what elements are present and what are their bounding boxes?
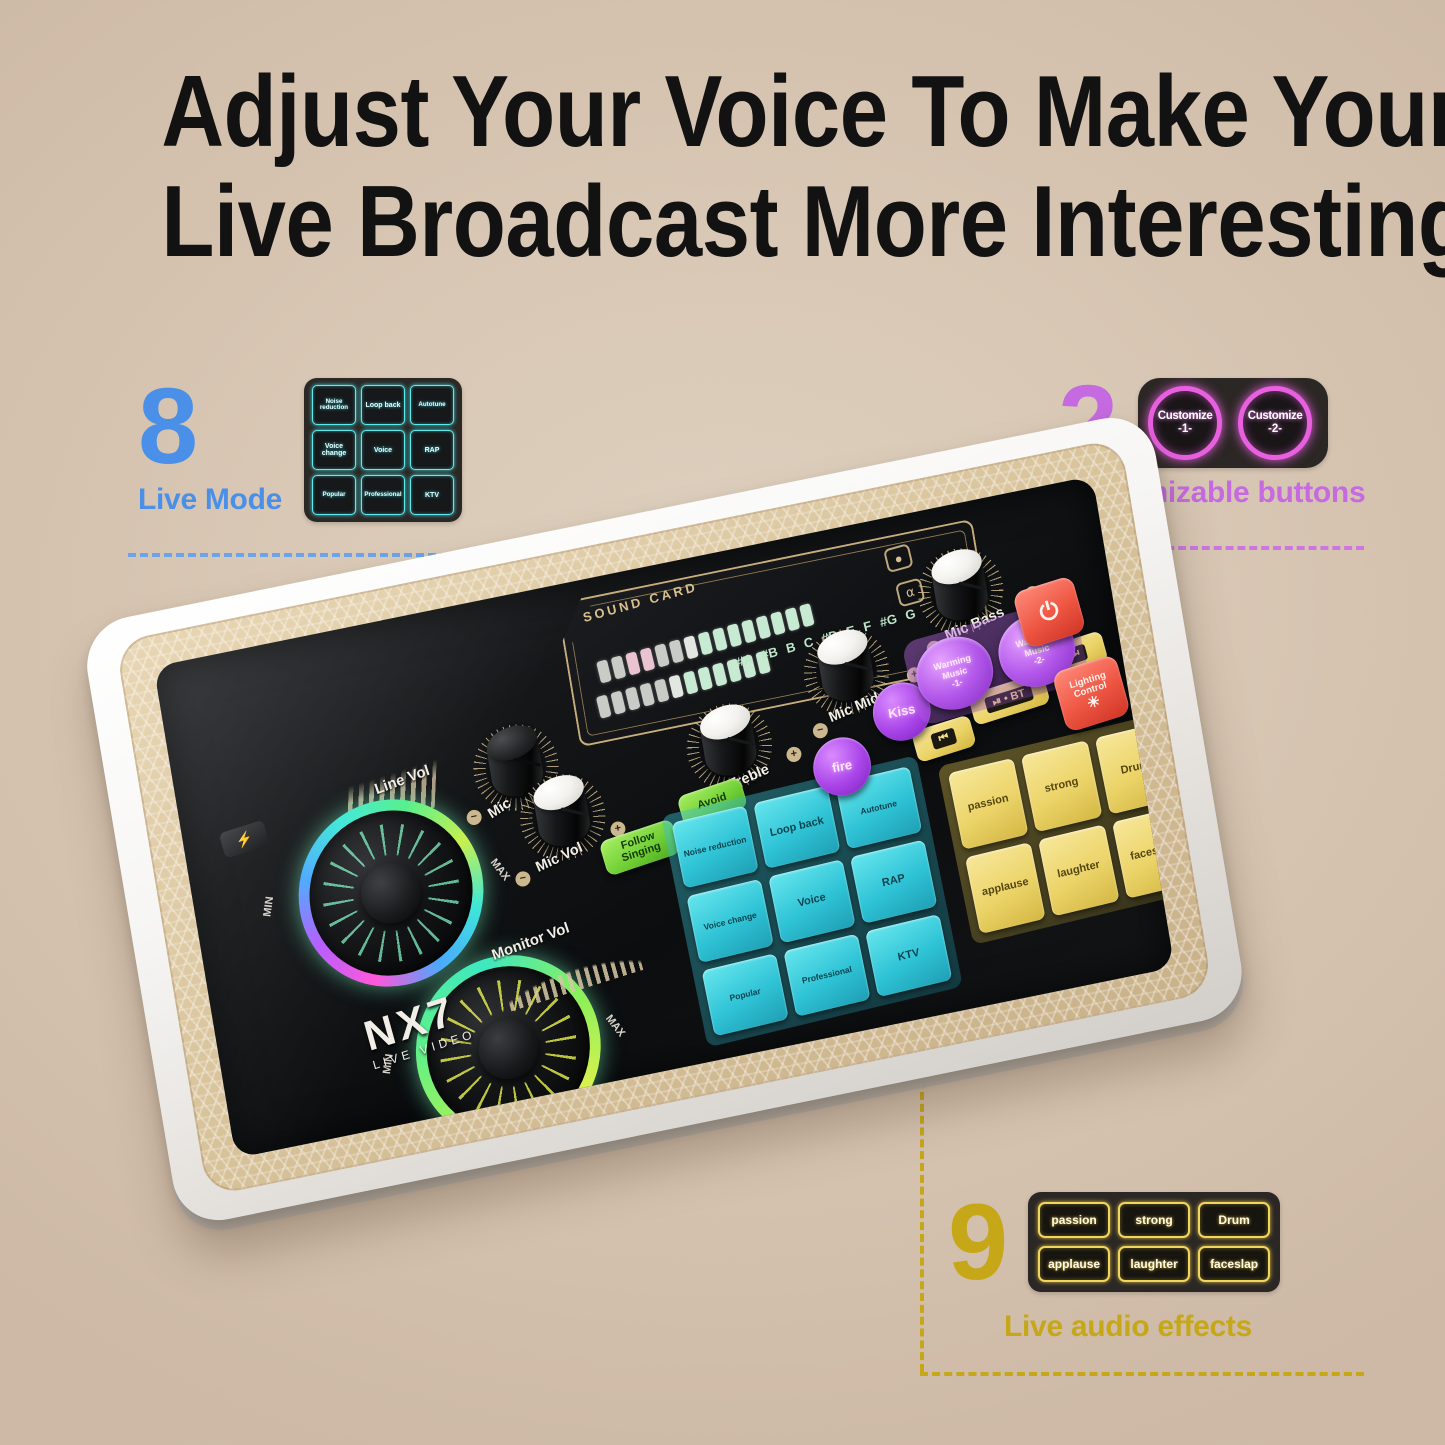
lighting-control-button[interactable]: Lighting Control ☀ xyxy=(1051,654,1131,733)
connector-gold-horizontal xyxy=(920,1372,1364,1376)
ring-2-line2: -2- xyxy=(1268,423,1282,436)
fire-button[interactable]: fire xyxy=(809,732,875,801)
previous-track-button[interactable]: ⏮ xyxy=(911,714,977,763)
customize-2-line1: Warming xyxy=(1015,630,1054,650)
audio-effects-button-preview: passion strong Drum applause laughter fa… xyxy=(1028,1192,1280,1292)
mic-mid-knob-pointer xyxy=(844,662,872,671)
brand-name: NX7 xyxy=(359,982,474,1060)
key-laughter[interactable]: laughter xyxy=(1038,824,1119,916)
customize-1-line1: Warming xyxy=(933,653,972,673)
device-shell-side xyxy=(90,469,1251,1239)
preview-chip-ktv: KTV xyxy=(410,475,454,515)
mic-vol-knob-minus: − xyxy=(514,870,531,888)
audio-effects-number: 9 xyxy=(948,1199,1006,1285)
monitor-vol-fins xyxy=(429,967,587,1131)
mic-treble-knob-pointer xyxy=(727,737,755,746)
preview-ring-customize-2: Customize -2- xyxy=(1238,386,1312,460)
decorative-eq-bars xyxy=(492,901,643,1012)
key-noise-reduction[interactable]: Noise reduction xyxy=(671,805,758,889)
mic-mid-knob[interactable] xyxy=(797,621,895,723)
led-display-inner xyxy=(567,529,986,736)
monitor-vol-label: Monitor Vol xyxy=(490,919,572,964)
audio-effects-label: Live audio effects xyxy=(1004,1310,1280,1344)
note-label-7: #G xyxy=(878,611,898,630)
customizable-number: 2 xyxy=(1058,380,1116,466)
line-vol-encoder[interactable] xyxy=(285,783,498,1004)
mic-vol-knob-body xyxy=(531,773,593,850)
line-vol-label: Line Vol xyxy=(373,762,432,798)
live-mode-number: 8 xyxy=(138,383,282,469)
mic-vol-knob-cap xyxy=(529,769,588,817)
key-professional[interactable]: Professional xyxy=(783,933,870,1017)
preview-chip-voice: Voice xyxy=(361,430,405,470)
customize-1-button[interactable]: Warming Music -1- xyxy=(909,628,1000,718)
preview-ring-customize-1: Customize -1- xyxy=(1148,386,1222,460)
customize-1-line3: -1- xyxy=(951,677,964,690)
mic-mid-knob-ticks xyxy=(797,621,895,723)
key-loop-back[interactable]: Loop back xyxy=(753,786,840,870)
headphone-icon: ⍺ xyxy=(895,577,926,607)
connector-magenta-horizontal xyxy=(1024,546,1364,550)
callout-live-audio-effects: 9 passion strong Drum applause laughter … xyxy=(948,1192,1280,1344)
live-mode-label: Live Mode xyxy=(138,483,282,517)
mic-icon: ● xyxy=(883,543,914,573)
callout-customizable-buttons: 2 Customize -1- Customize -2- Customizab… xyxy=(1058,378,1365,510)
mic-vol-knob[interactable] xyxy=(514,766,612,868)
preview-chip-voice-change: Voice change xyxy=(312,430,356,470)
live-mode-keypad: Noise reduction Loop back Autotune Voice… xyxy=(661,755,963,1047)
preview-chip-passion: passion xyxy=(1038,1202,1110,1238)
live-mode-button-preview: Noise reduction Loop back Autotune Voice… xyxy=(304,378,462,522)
lighting-control-line2: Control xyxy=(1073,681,1108,701)
mic-bass-knob-ticks xyxy=(911,540,1009,642)
mic-vol-knob-ticks xyxy=(514,766,612,868)
note-label-4: #D xyxy=(820,627,840,646)
lighting-control-icon: ☀ xyxy=(1085,693,1102,712)
avoid-button[interactable]: Avoid xyxy=(676,776,748,828)
note-label-1: #B xyxy=(760,644,780,663)
mic-knob-body xyxy=(484,723,546,800)
ring-2-line1: Customize xyxy=(1248,410,1303,423)
connector-blue-vertical xyxy=(638,553,642,869)
mic-bass-knob[interactable] xyxy=(911,540,1009,642)
monitor-vol-encoder[interactable] xyxy=(402,938,615,1158)
preview-chip-autotune: Autotune xyxy=(410,385,454,425)
mic-mid-knob-plus: + xyxy=(906,666,923,684)
preview-chip-loop-back: Loop back xyxy=(361,385,405,425)
note-label-5: E xyxy=(845,622,857,639)
usb-icon: ⚡ xyxy=(219,820,270,859)
lighting-control-line1: Lighting xyxy=(1069,671,1108,692)
mic-treble-knob-label: Mic Treble xyxy=(700,761,771,804)
kiss-button[interactable]: Kiss xyxy=(869,677,935,746)
next-icon: ⏭ xyxy=(1061,644,1088,666)
title-line-2: Live Broadcast More Interesting xyxy=(161,172,1283,272)
next-track-button[interactable]: ⏭ xyxy=(1041,630,1109,679)
mic-bass-knob-pointer xyxy=(958,581,986,590)
preview-chip-professional: Professional xyxy=(361,475,405,515)
page-title: Adjust Your Voice To Make Your Live Broa… xyxy=(0,62,1445,272)
key-voice[interactable]: Voice xyxy=(768,859,855,943)
mic-treble-knob[interactable] xyxy=(680,696,778,798)
key-strong[interactable]: strong xyxy=(1021,740,1102,832)
key-voice-change[interactable]: Voice change xyxy=(686,879,773,963)
mic-mid-knob-body xyxy=(814,628,876,705)
note-label-3: C xyxy=(802,634,815,651)
monitor-vol-rgb-halo xyxy=(402,938,615,1158)
line-vol-rgb-halo xyxy=(285,783,498,1004)
mic-treble-knob-body xyxy=(697,703,759,780)
connector-blue-horizontal xyxy=(128,553,640,557)
customize-button-group: Warming Music -1- Warming Music -2- xyxy=(901,597,1091,728)
note-label-2: B xyxy=(784,639,797,656)
decorative-eq-bars-top xyxy=(347,755,437,836)
note-label-6: F xyxy=(862,618,873,635)
mic-knob-pointer xyxy=(514,758,542,767)
mic-mid-knob-minus: − xyxy=(812,722,829,740)
line-vol-hub xyxy=(357,858,425,929)
mic-mid-knob-label: Mic Mid xyxy=(827,690,882,726)
mic-vol-knob-plus: + xyxy=(609,820,626,838)
mic-knob-label: Mic xyxy=(485,795,514,822)
mic-knob-cap xyxy=(482,719,541,767)
mic-bass-knob-body xyxy=(929,547,991,624)
customize-2-line3: -2- xyxy=(1033,654,1046,667)
mic-bass-knob-cap xyxy=(927,543,986,591)
customizable-label: Customizable buttons xyxy=(1058,476,1365,510)
connector-magenta-vertical xyxy=(1024,546,1028,768)
customize-1-line2: Music xyxy=(941,665,968,682)
monitor-vol-inner xyxy=(414,952,602,1147)
brand-subtitle: LIVE VIDEO xyxy=(371,1027,477,1073)
preview-chip-noise-reduction: Noise reduction xyxy=(312,385,356,425)
mic-knob-ticks xyxy=(467,717,565,819)
note-scale-labels: #A #B B C #D E F #G G xyxy=(735,606,917,670)
mic-knob-minus: − xyxy=(466,809,483,827)
customizable-button-preview: Customize -1- Customize -2- xyxy=(1138,378,1328,468)
key-passion[interactable]: passion xyxy=(948,758,1029,850)
line-vol-fins xyxy=(312,811,470,975)
customize-2-button[interactable]: Warming Music -2- xyxy=(991,605,1082,695)
device-shell xyxy=(80,409,1249,1228)
mic-bass-knob-minus: − xyxy=(926,639,943,657)
brand-logo: NX7 LIVE VIDEO xyxy=(359,982,477,1072)
line-vol-max-label: MAX xyxy=(488,857,512,884)
sound-card-device: ⚡ SOUND CARD #A # xyxy=(96,452,1281,1262)
device-bezel xyxy=(115,437,1213,1196)
note-label-8: G xyxy=(904,606,917,623)
led-meter-row-1 xyxy=(596,603,815,684)
key-autotune[interactable]: Autotune xyxy=(835,766,922,850)
device-faceplate: ⚡ SOUND CARD #A # xyxy=(154,476,1175,1158)
key-drum[interactable]: Drum xyxy=(1094,723,1174,815)
line-vol-min-label: MIN xyxy=(261,896,276,918)
monitor-vol-min-label: MIN xyxy=(381,1053,396,1075)
preview-chip-applause: applause xyxy=(1038,1246,1110,1282)
mic-vol-knob-pointer xyxy=(561,807,589,816)
ring-1-line2: -1- xyxy=(1178,423,1192,436)
connector-gold-vertical xyxy=(920,962,924,1372)
audio-effects-keypad: passion strong Drum applause laughter fa… xyxy=(937,712,1174,945)
ring-1-line1: Customize xyxy=(1158,410,1213,423)
mic-vol-knob-label: Mic Vol xyxy=(533,840,585,876)
power-icon: ⏻ xyxy=(1037,597,1062,627)
key-ktv[interactable]: KTV xyxy=(865,914,952,998)
mic-treble-knob-cap xyxy=(696,698,755,746)
preview-chip-rap: RAP xyxy=(410,430,454,470)
mic-treble-knob-ticks xyxy=(680,696,778,798)
preview-chip-drum: Drum xyxy=(1198,1202,1270,1238)
monitor-vol-hub xyxy=(474,1013,542,1084)
callout-live-mode: 8 Live Mode Noise reduction Loop back Au… xyxy=(138,378,462,522)
line-vol-inner xyxy=(297,796,485,991)
mic-bass-knob-label: Mic Bass xyxy=(943,604,1007,644)
preview-chip-popular: Popular xyxy=(312,475,356,515)
key-rap[interactable]: RAP xyxy=(850,840,937,924)
preview-chip-strong: strong xyxy=(1118,1202,1190,1238)
key-popular[interactable]: Popular xyxy=(701,953,788,1037)
preview-chip-faceslap: faceslap xyxy=(1198,1246,1270,1282)
led-meter-row-2 xyxy=(596,650,771,718)
mic-knob[interactable] xyxy=(467,717,565,819)
mic-treble-knob-plus: + xyxy=(785,746,802,764)
key-applause[interactable]: applause xyxy=(965,842,1046,934)
note-label-0: #A xyxy=(735,651,755,670)
key-faceslap[interactable]: faceslap xyxy=(1112,807,1175,899)
monitor-vol-max-label: MAX xyxy=(603,1013,627,1040)
mic-treble-knob-minus: − xyxy=(681,799,698,817)
preview-chip-laughter: laughter xyxy=(1118,1246,1190,1282)
previous-icon: ⏮ xyxy=(930,728,957,750)
title-line-1: Adjust Your Voice To Make Your xyxy=(161,62,1283,162)
play-pause-bluetooth-button[interactable]: ⏯ • BT xyxy=(967,672,1050,726)
mic-mid-knob-cap xyxy=(813,623,872,671)
